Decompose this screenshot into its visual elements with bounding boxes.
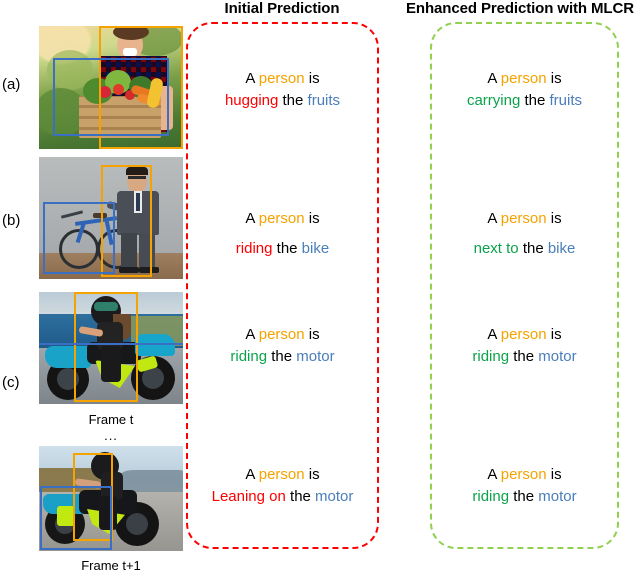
word-object: motor [296, 348, 334, 365]
row-label-a: (a) [2, 76, 34, 93]
row-label-b: (b) [2, 212, 34, 229]
bounding-box-object-b [43, 202, 115, 274]
word-object: motor [538, 348, 576, 365]
caption-line-1: A person is [430, 324, 619, 346]
caption-line-2: Leaning on the motor [186, 486, 379, 508]
caption-line-1: A person is [186, 464, 379, 486]
bounding-box-object-c-frame-t [39, 343, 183, 404]
caption-line-2: riding the motor [430, 486, 619, 508]
caption-line-2: riding the motor [186, 346, 379, 368]
word-action: next to [474, 240, 519, 257]
caption-initial-b: A person is riding the bike [186, 208, 379, 260]
caption-initial-c-frame-t1: A person is Leaning on the motor [186, 464, 379, 508]
word-action: riding [230, 348, 267, 365]
caption-line-1: A person is [186, 68, 379, 90]
word-object: motor [315, 488, 353, 505]
word-person: person [501, 326, 547, 343]
caption-line-1: A person is [186, 208, 379, 230]
caption-line-1: A person is [186, 324, 379, 346]
bounding-box-object-c-frame-t1 [40, 486, 112, 550]
word-object: fruits [308, 92, 341, 109]
word-object: bike [302, 240, 330, 257]
figure-image-b [39, 157, 183, 279]
word-action: riding [236, 240, 273, 257]
caption-line-2: riding the motor [430, 346, 619, 368]
frame-caption-t-plus-1: Frame t+1 [29, 558, 193, 573]
word-person: person [501, 466, 547, 483]
caption-line-1: A person is [430, 68, 619, 90]
caption-initial-c-frame-t: A person is riding the motor [186, 324, 379, 368]
word-person: person [259, 210, 305, 227]
word-action: carrying [467, 92, 520, 109]
caption-enhanced-c-frame-t1: A person is riding the motor [430, 464, 619, 508]
word-person: person [501, 210, 547, 227]
word-action: Leaning on [212, 488, 286, 505]
word-action: riding [472, 348, 509, 365]
word-person: person [259, 326, 305, 343]
word-object: bike [548, 240, 576, 257]
caption-line-2: next to the bike [430, 238, 619, 260]
word-object: motor [538, 488, 576, 505]
caption-line-1: A person is [430, 208, 619, 230]
word-action: hugging [225, 92, 278, 109]
figure-image-a [39, 26, 183, 149]
bounding-box-object-a [53, 58, 169, 136]
caption-enhanced-a: A person is carrying the fruits [430, 68, 619, 112]
caption-line-2: carrying the fruits [430, 90, 619, 112]
word-action: riding [472, 488, 509, 505]
caption-initial-a: A person is hugging the fruits [186, 68, 379, 112]
word-person: person [259, 70, 305, 87]
caption-enhanced-b: A person is next to the bike [430, 208, 619, 260]
frame-caption-t: Frame t [39, 412, 183, 427]
figure-image-c-frame-t1 [39, 446, 183, 551]
word-person: person [259, 466, 305, 483]
caption-line-2: riding the bike [186, 238, 379, 260]
frame-sequence-ellipsis: ... [39, 428, 183, 443]
caption-line-1: A person is [430, 464, 619, 486]
column-header-initial-prediction: Initial Prediction [186, 0, 378, 17]
caption-enhanced-c-frame-t: A person is riding the motor [430, 324, 619, 368]
figure-image-c-frame-t [39, 292, 183, 404]
word-person: person [501, 70, 547, 87]
row-label-c: (c) [2, 374, 34, 391]
caption-line-2: hugging the fruits [186, 90, 379, 112]
word-object: fruits [550, 92, 583, 109]
column-header-enhanced-prediction: Enhanced Prediction with MLCR [400, 0, 640, 17]
